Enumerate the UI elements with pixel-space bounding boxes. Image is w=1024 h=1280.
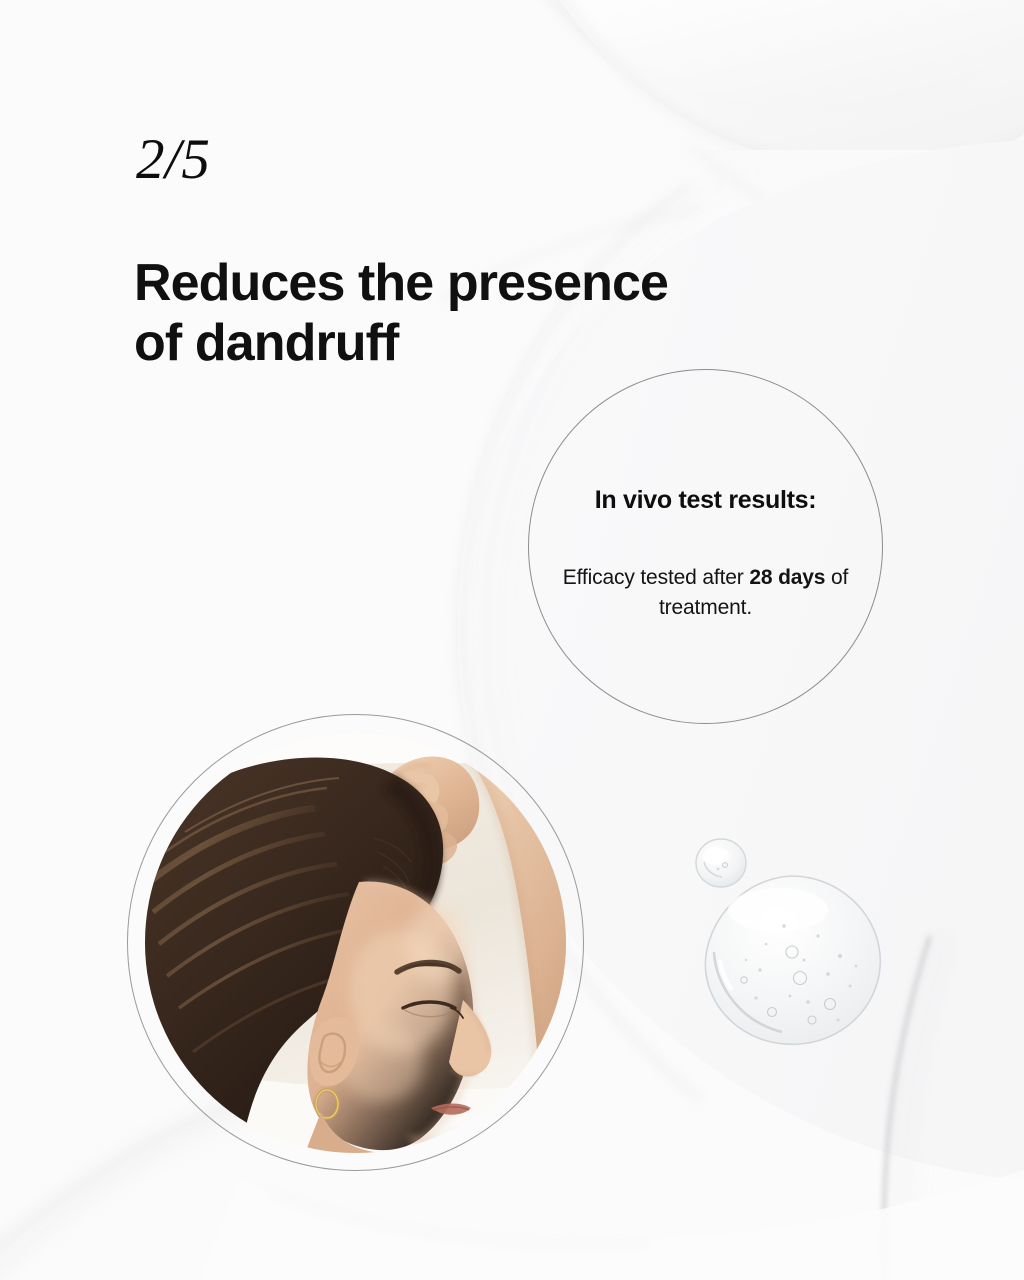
model-photo <box>145 732 566 1153</box>
page-title: Reduces the presence of dandruff <box>134 253 794 374</box>
serum-gel-drop-large <box>700 874 884 1046</box>
headline-line-1: Reduces the presence <box>134 253 794 313</box>
headline-line-2: of dandruff <box>134 313 794 373</box>
results-body-emphasis: 28 days <box>749 566 825 589</box>
results-badge-body: Efficacy tested after 28 days of treatme… <box>556 563 856 623</box>
slide-canvas: 2/5 Reduces the presence of dandruff In … <box>0 0 1024 1280</box>
slide-counter: 2/5 <box>136 131 210 188</box>
results-body-prefix: Efficacy tested after <box>563 566 750 589</box>
results-badge-title: In vivo test results: <box>595 486 817 515</box>
in-vivo-results-badge: In vivo test results: Efficacy tested af… <box>528 369 883 724</box>
